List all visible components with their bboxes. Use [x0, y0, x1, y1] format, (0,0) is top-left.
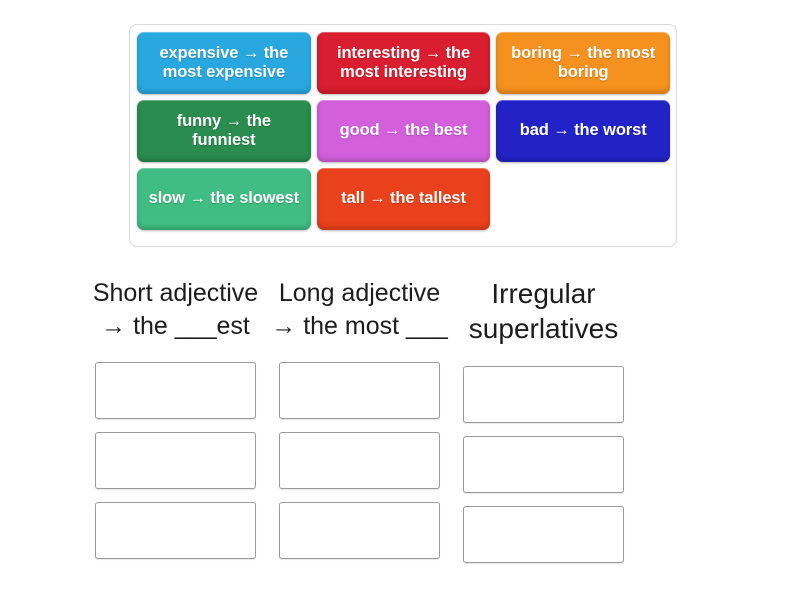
draggable-tile-slow[interactable]: slow → the slowest [137, 168, 311, 230]
drop-box[interactable] [95, 502, 256, 559]
column-heading-irregular-superlatives: Irregular superlatives [451, 277, 636, 346]
drop-box[interactable] [463, 366, 624, 423]
column-heading-long-adjective: Long adjective → the most ___ [267, 277, 452, 342]
drop-box[interactable] [279, 362, 440, 419]
category-column-long-adjective: Long adjective → the most ___ [279, 277, 440, 563]
draggable-tile-boring[interactable]: boring → the most boring [496, 32, 670, 94]
category-column-irregular-superlatives: Irregular superlatives [463, 277, 624, 563]
column-heading-short-adjective: Short adjective → the ___est [83, 277, 268, 342]
category-columns: Short adjective → the ___est Long adject… [95, 277, 704, 563]
draggable-tile-tall[interactable]: tall → the tallest [317, 168, 491, 230]
draggable-tile-funny[interactable]: funny → the funniest [137, 100, 311, 162]
tile-row: funny → the funniest good → the best bad… [137, 100, 670, 162]
drop-box[interactable] [279, 502, 440, 559]
drop-box[interactable] [463, 436, 624, 493]
tile-tray: expensive → the most expensive interesti… [129, 24, 677, 247]
draggable-tile-bad[interactable]: bad → the worst [496, 100, 670, 162]
category-column-short-adjective: Short adjective → the ___est [95, 277, 256, 563]
draggable-tile-expensive[interactable]: expensive → the most expensive [137, 32, 311, 94]
tile-row: expensive → the most expensive interesti… [137, 32, 670, 94]
drop-box[interactable] [95, 362, 256, 419]
tile-slot-empty [496, 168, 670, 230]
drop-box[interactable] [279, 432, 440, 489]
draggable-tile-interesting[interactable]: interesting → the most interesting [317, 32, 491, 94]
draggable-tile-good[interactable]: good → the best [317, 100, 491, 162]
tile-row: slow → the slowest tall → the tallest [137, 168, 670, 230]
drop-box[interactable] [95, 432, 256, 489]
drop-box[interactable] [463, 506, 624, 563]
